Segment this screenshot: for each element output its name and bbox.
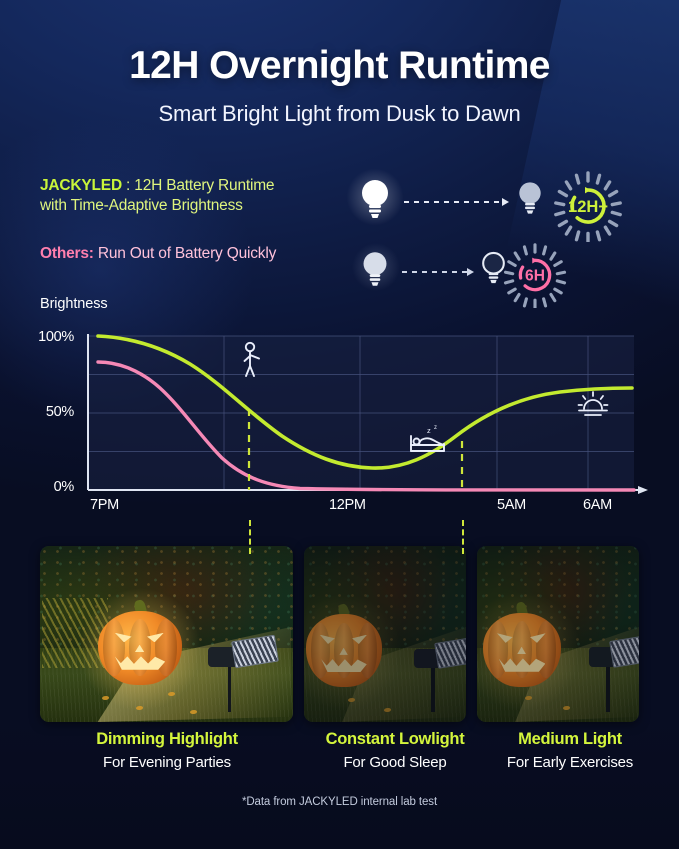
caption-constant-lowlight: Constant Lowlight For Good Sleep [300,730,490,771]
pumpkin-icon [98,602,182,688]
connector-dimming [249,520,251,554]
svg-text:z: z [434,425,437,431]
bulb-bright-icon [358,178,392,220]
xtick-7pm: 7PM [90,497,119,513]
chart-canvas: z z [0,296,679,526]
solar-lamp-icon [208,622,274,712]
caption-dimming-highlight: Dimming Highlight For Evening Parties [42,730,292,771]
badge-12h-plus: 12H+ [552,170,624,242]
caption-title: Constant Lowlight [300,730,490,749]
comparison-row-jackyled: JACKYLED : 12H Battery Runtime with Time… [40,176,640,240]
others-claim: Run Out of Battery Quickly [98,245,276,262]
caption-medium-light: Medium Light For Early Exercises [490,730,650,771]
xtick-6am: 6AM [583,497,612,513]
panel-captions: Dimming Highlight For Evening Parties Co… [0,730,679,786]
caption-subtitle: For Good Sleep [300,754,490,771]
comparison-text-others: Others: Run Out of Battery Quickly [40,244,370,264]
brand-claim-line1: 12H Battery Runtime [134,177,274,194]
infographic-root: 12H Overnight Runtime Smart Bright Light… [0,0,679,849]
runtime-icons-others: 6H [352,242,642,304]
header: 12H Overnight Runtime Smart Bright Light… [0,44,679,127]
svg-text:z: z [427,426,431,435]
page-title: 12H Overnight Runtime [0,44,679,88]
badge-12h-label: 12H+ [568,198,608,216]
bulb-others-start-icon [360,250,390,288]
runtime-icons-jackyled: 12H+ [352,172,642,234]
comparison-text-jackyled: JACKYLED : 12H Battery Runtime with Time… [40,176,370,216]
brand-label: JACKYLED [40,177,122,194]
brand-separator: : [122,177,134,194]
xtick-12pm: 12PM [329,497,366,513]
progress-arrow-others [402,267,474,277]
footnote: *Data from JACKYLED internal lab test [0,796,679,808]
panel-constant-lowlight[interactable] [304,546,466,722]
caption-title: Medium Light [490,730,650,749]
progress-arrow-jackyled [404,197,509,207]
comparison-section: JACKYLED : 12H Battery Runtime with Time… [40,176,640,308]
bulb-dim-icon [516,180,544,216]
caption-subtitle: For Early Exercises [490,754,650,771]
others-label: Others: [40,245,94,262]
xtick-5am: 5AM [497,497,526,513]
panel-medium-light[interactable] [477,546,639,722]
panel-dimming-highlight[interactable] [40,546,293,722]
caption-subtitle: For Evening Parties [42,754,292,771]
scene-panels [40,546,639,722]
page-subtitle: Smart Bright Light from Dusk to Dawn [0,101,679,127]
badge-6h-label: 6H [525,268,545,285]
caption-title: Dimming Highlight [42,730,292,749]
brand-claim-line2: with Time-Adaptive Brightness [40,196,370,216]
brightness-chart: Brightness 100% 50% 0% [0,296,679,526]
connector-lowlight [462,520,464,554]
